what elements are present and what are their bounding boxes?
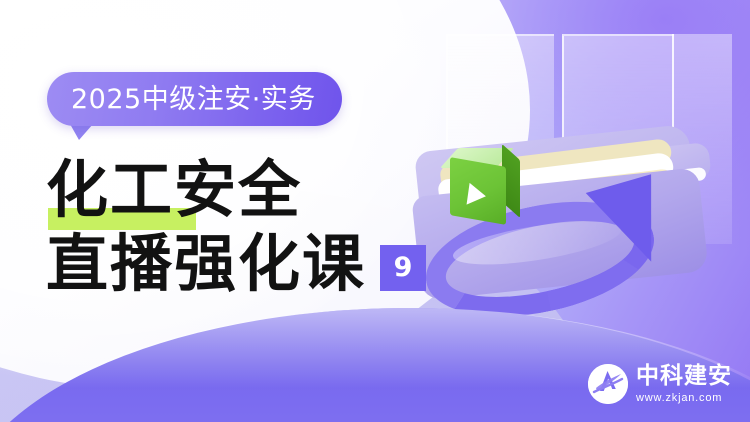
badge-speech-tail — [70, 124, 93, 140]
play-cube-icon — [446, 146, 520, 224]
headline-line-2: 直播强化课 — [46, 232, 366, 296]
zkjan-monogram-icon — [588, 364, 628, 404]
headline-row-2: 直播强化课 9 — [46, 232, 426, 296]
episode-number-badge: 9 — [380, 245, 426, 291]
headline-line-1: 化工安全 — [46, 158, 302, 222]
brand-name: 中科建安 — [636, 365, 732, 388]
brand-logo: 中科建安 www.zkjan.com — [588, 364, 732, 404]
course-category-badge: 2025中级注安·实务 — [47, 72, 342, 126]
brand-logo-text: 中科建安 www.zkjan.com — [636, 365, 732, 404]
headline-row-1: 化工安全 — [46, 158, 426, 222]
headline-block: 化工安全 直播强化课 9 — [46, 158, 426, 297]
course-promo-banner: 2025中级注安·实务 化工安全 直播强化课 9 中科建安 www.zkjan.… — [0, 0, 750, 422]
course-category-label: 2025中级注安·实务 — [71, 86, 316, 113]
brand-url: www.zkjan.com — [636, 393, 732, 404]
play-triangle-icon — [467, 183, 488, 207]
